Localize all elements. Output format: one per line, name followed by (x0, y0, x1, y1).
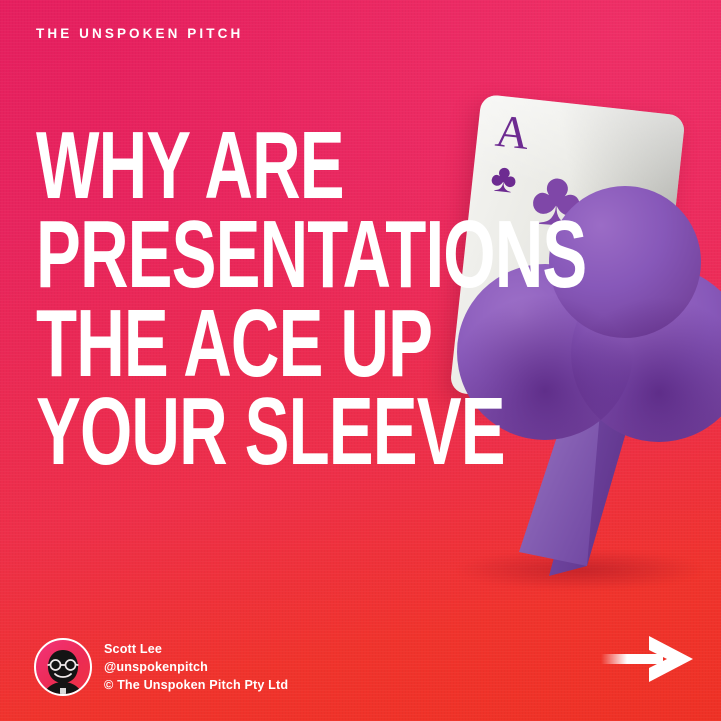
author-name: Scott Lee (104, 640, 288, 658)
headline-line-3: THE ACE UP (36, 300, 586, 389)
headline-line-1: WHY ARE (36, 122, 586, 211)
social-post-canvas: THE UNSPOKEN PITCH A ♣ ♣ (0, 0, 721, 721)
headline-line-4: YOUR SLEEVE (36, 388, 586, 477)
brand-eyebrow: THE UNSPOKEN PITCH (36, 27, 243, 41)
avatar (34, 638, 92, 696)
author-byline: Scott Lee @unspokenpitch © The Unspoken … (34, 638, 288, 696)
portrait-illustration (41, 648, 85, 696)
copyright-notice: © The Unspoken Pitch Pty Ltd (104, 676, 288, 694)
page-title: WHY ARE PRESENTATIONS THE ACE UP YOUR SL… (36, 122, 586, 477)
next-arrow-icon[interactable] (601, 635, 693, 683)
headline-line-2: PRESENTATIONS (36, 211, 586, 300)
byline-text: Scott Lee @unspokenpitch © The Unspoken … (104, 640, 288, 695)
author-handle: @unspokenpitch (104, 658, 288, 676)
